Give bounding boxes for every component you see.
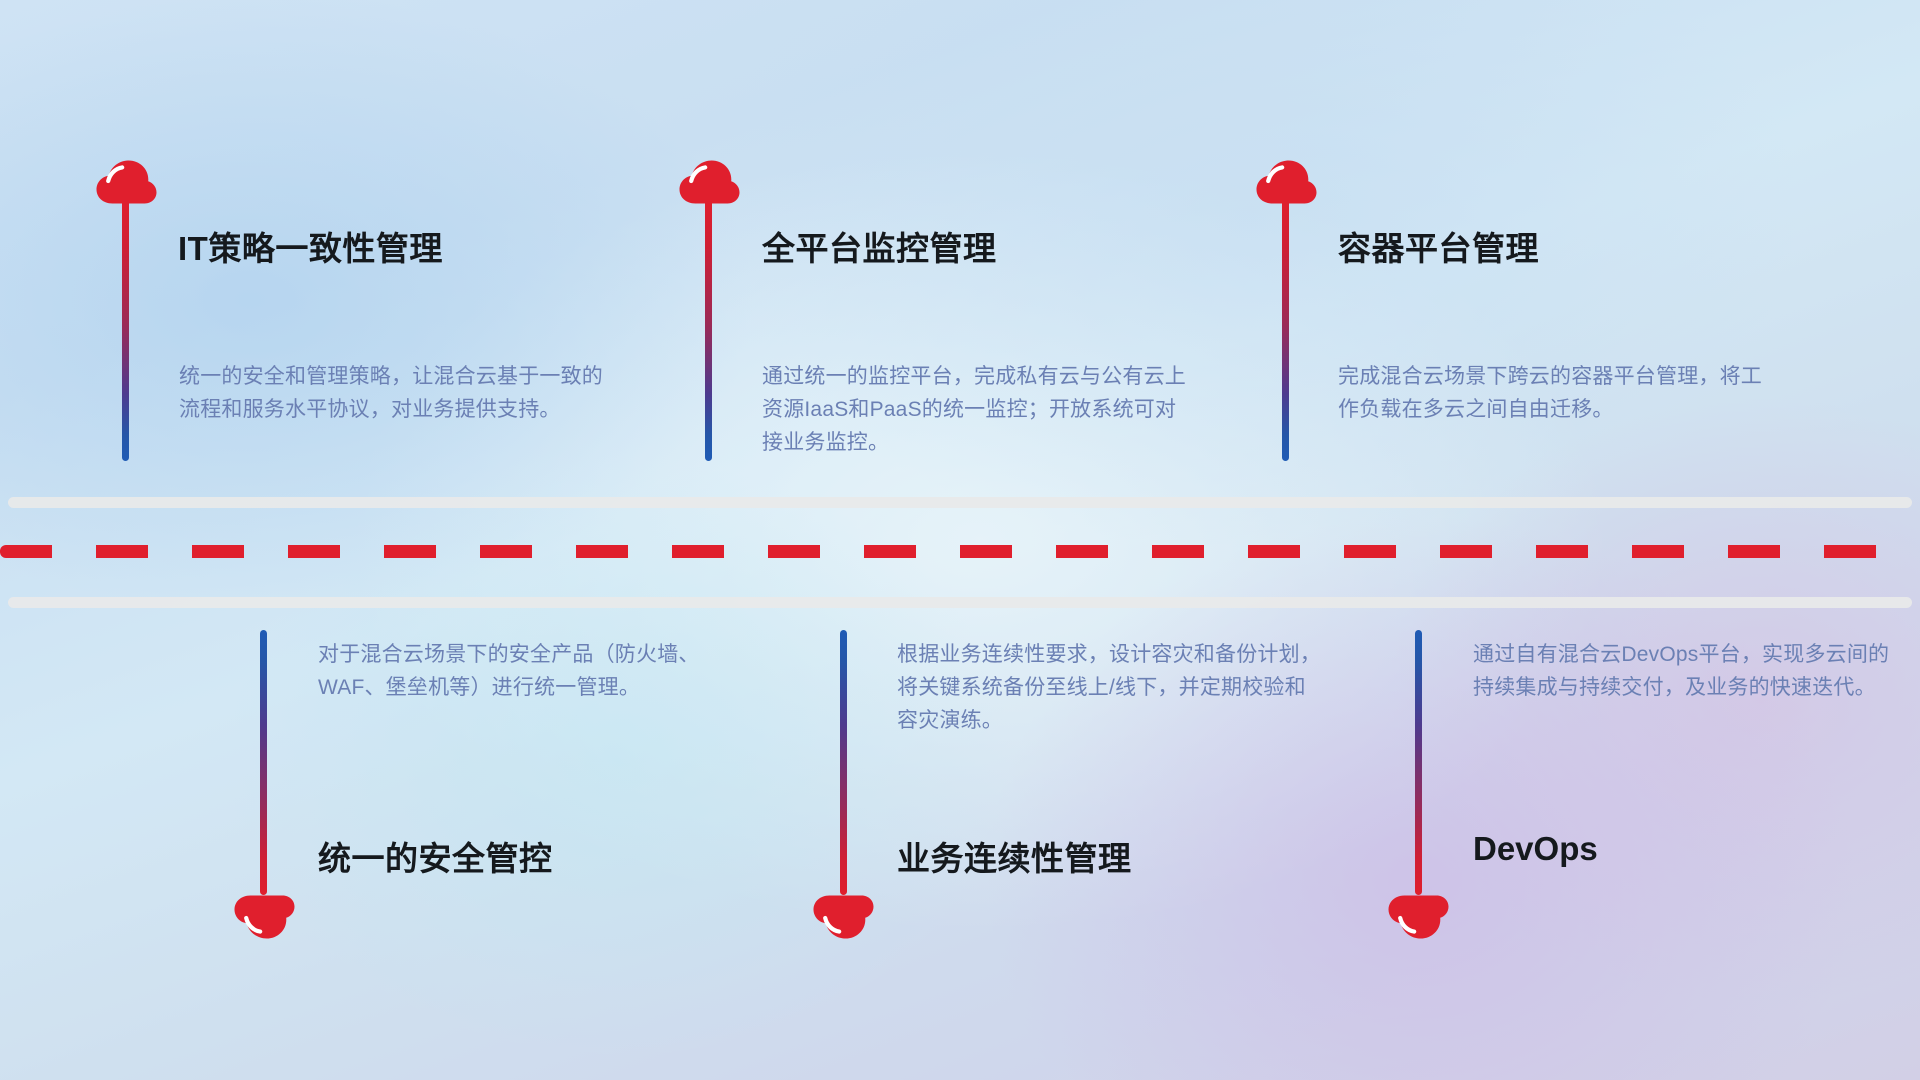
panel-title: 统一的安全管控 [318, 832, 553, 880]
panel-body-text: 根据业务连续性要求，设计容灾和备份计划，将关键系统备份至线上/线下，并定期校验和… [897, 638, 1327, 737]
accent-stem [122, 199, 129, 461]
accent-stem [705, 199, 712, 461]
panel-title: 业务连续性管理 [897, 832, 1132, 880]
cloud-icon [1387, 895, 1449, 939]
accent-stem [1282, 199, 1289, 461]
panel-title: DevOps [1473, 830, 1598, 868]
divider-rail-top [8, 497, 1912, 508]
cloud-icon [1255, 160, 1317, 204]
panel-title: 全平台监控管理 [762, 222, 997, 270]
divider-rail-bottom [8, 597, 1912, 608]
accent-stem [840, 630, 847, 895]
panel-body-text: 通过统一的监控平台，完成私有云与公有云上资源IaaS和PaaS的统一监控；开放系… [762, 360, 1192, 459]
panel-body-text: 对于混合云场景下的安全产品（防火墙、WAF、堡垒机等）进行统一管理。 [318, 638, 748, 704]
panel-body-text: 统一的安全和管理策略，让混合云基于一致的流程和服务水平协议，对业务提供支持。 [179, 360, 609, 426]
infographic-canvas: IT策略一致性管理 统一的安全和管理策略，让混合云基于一致的流程和服务水平协议，… [0, 0, 1920, 1080]
panel-title: IT策略一致性管理 [178, 222, 443, 270]
accent-stem [260, 630, 267, 895]
cloud-icon [678, 160, 740, 204]
panel-body-text: 通过自有混合云DevOps平台，实现多云间的持续集成与持续交付，及业务的快速迭代… [1473, 638, 1903, 704]
panel-title: 容器平台管理 [1338, 222, 1539, 270]
cloud-icon [812, 895, 874, 939]
accent-stem [1415, 630, 1422, 895]
cloud-icon [233, 895, 295, 939]
divider-dashed-line [0, 545, 1920, 558]
panel-body-text: 完成混合云场景下跨云的容器平台管理，将工作负载在多云之间自由迁移。 [1338, 360, 1768, 426]
cloud-icon [95, 160, 157, 204]
